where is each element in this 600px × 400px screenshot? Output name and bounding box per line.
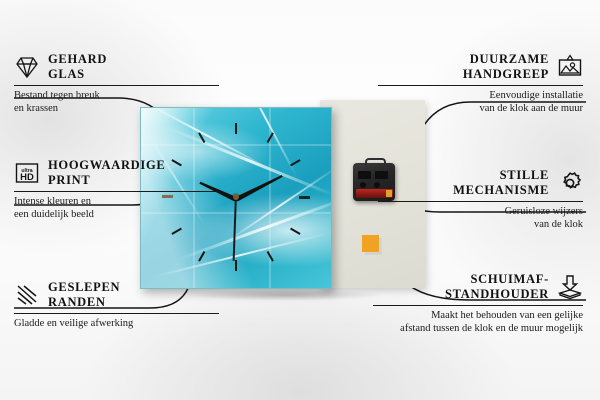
feature-description: Eenvoudige installatie van de klok aan d…: [378, 90, 583, 115]
second-hand: [233, 199, 237, 261]
hour-tick: [198, 251, 205, 262]
feature-title-line2: HANDGREEP: [463, 67, 549, 82]
feature-divider: [378, 85, 583, 86]
feature-desc-line1: Gladde en veilige afwerking: [14, 318, 219, 331]
feature-divider: [14, 191, 219, 192]
feature-title: DUURZAME HANDGREEP: [463, 52, 549, 82]
mechanism-screw-left: [360, 182, 366, 188]
print-streak: [222, 165, 332, 245]
feature-title-line2: RANDEN: [48, 295, 120, 310]
feature-header: SCHUIMAF- STANDHOUDER: [373, 272, 583, 302]
feature-description: Geruisloze wijzers van de klok: [378, 206, 583, 231]
feature-header: DUURZAME HANDGREEP: [378, 52, 583, 82]
feature-title: GEHARD GLAS: [48, 52, 107, 82]
feature-desc-line1: Geruisloze wijzers: [378, 206, 583, 219]
hour-tick: [235, 260, 237, 271]
feature-title: SCHUIMAF- STANDHOUDER: [445, 272, 549, 302]
feature-desc-line2: van de klok aan de muur: [378, 103, 583, 116]
feature-header: STILLE MECHANISME: [378, 168, 583, 198]
hour-tick: [171, 228, 182, 235]
press-down-pad-icon: [557, 274, 583, 300]
feature-divider: [14, 313, 219, 314]
feature-description: Bestand tegen breuk en krassen: [14, 90, 219, 115]
hour-tick: [290, 228, 301, 235]
print-grid-line: [141, 144, 331, 146]
feature-divider: [14, 85, 219, 86]
hour-tick: [299, 196, 310, 199]
feature-desc-line1: Maakt het behouden van een gelijke: [373, 310, 583, 323]
feature-title-line2: PRINT: [48, 173, 165, 188]
feature-title-line1: STILLE: [453, 168, 549, 183]
hour-tick: [290, 159, 301, 166]
foam-spacer: [362, 235, 379, 252]
minute-hand: [235, 174, 284, 202]
ultra-hd-icon-large-text: HD: [20, 172, 34, 183]
feature-stille-mechanisme: STILLE MECHANISME Geruisloze wijzers van…: [378, 168, 583, 231]
print-streak: [153, 232, 328, 277]
hour-tick: [198, 132, 205, 143]
feature-desc-line2: afstand tussen de klok en de muur mogeli…: [373, 323, 583, 336]
feature-title-line1: GESLEPEN: [48, 280, 120, 295]
feature-title-line2: MECHANISME: [453, 183, 549, 198]
infographic-canvas: GEHARD GLAS Bestand tegen breuk en krass…: [0, 0, 600, 400]
feature-title-line2: GLAS: [48, 67, 107, 82]
feature-schuimafstandhouder: SCHUIMAF- STANDHOUDER Maakt het behouden…: [373, 272, 583, 335]
feature-title-line1: SCHUIMAF-: [445, 272, 549, 287]
mechanism-slot-left: [358, 171, 371, 179]
feature-geslepen-randen: GESLEPEN RANDEN Gladde en veilige afwerk…: [14, 280, 219, 331]
diagonal-lines-icon: [14, 282, 40, 308]
feature-title: GESLEPEN RANDEN: [48, 280, 120, 310]
hour-tick: [235, 123, 237, 134]
gear-icon: [557, 170, 583, 196]
framed-picture-icon: [557, 54, 583, 80]
feature-desc-line1: Eenvoudige installatie: [378, 90, 583, 103]
feature-duurzame-handgreep: DUURZAME HANDGREEP Eenvoudige installati…: [378, 52, 583, 115]
feature-title: HOOGWAARDIGE PRINT: [48, 158, 165, 188]
ultra-hd-icon: ultra HD: [14, 160, 40, 186]
feature-title-line1: DUURZAME: [463, 52, 549, 67]
feature-desc-line1: Bestand tegen breuk: [14, 90, 219, 103]
feature-description: Maakt het behouden van een gelijke afsta…: [373, 310, 583, 335]
diamond-icon: [14, 54, 40, 80]
feature-desc-line1: Intense kleuren en: [14, 196, 219, 209]
feature-title: STILLE MECHANISME: [453, 168, 549, 198]
feature-gehard-glas: GEHARD GLAS Bestand tegen breuk en krass…: [14, 52, 219, 115]
center-cap: [233, 194, 239, 200]
feature-desc-line2: en krassen: [14, 103, 219, 116]
feature-description: Intense kleuren en een duidelijk beeld: [14, 196, 219, 221]
feature-title-line1: GEHARD: [48, 52, 107, 67]
feature-title-line1: HOOGWAARDIGE: [48, 158, 165, 173]
feature-header: ultra HD HOOGWAARDIGE PRINT: [14, 158, 219, 188]
feature-header: GEHARD GLAS: [14, 52, 219, 82]
feature-divider: [373, 305, 583, 306]
feature-header: GESLEPEN RANDEN: [14, 280, 219, 310]
feature-hoogwaardige-print: ultra HD HOOGWAARDIGE PRINT Intense kleu…: [14, 158, 219, 221]
feature-divider: [378, 201, 583, 202]
feature-desc-line2: van de klok: [378, 219, 583, 232]
feature-desc-line2: een duidelijk beeld: [14, 209, 219, 222]
feature-title-line2: STANDHOUDER: [445, 287, 549, 302]
feature-description: Gladde en veilige afwerking: [14, 318, 219, 331]
